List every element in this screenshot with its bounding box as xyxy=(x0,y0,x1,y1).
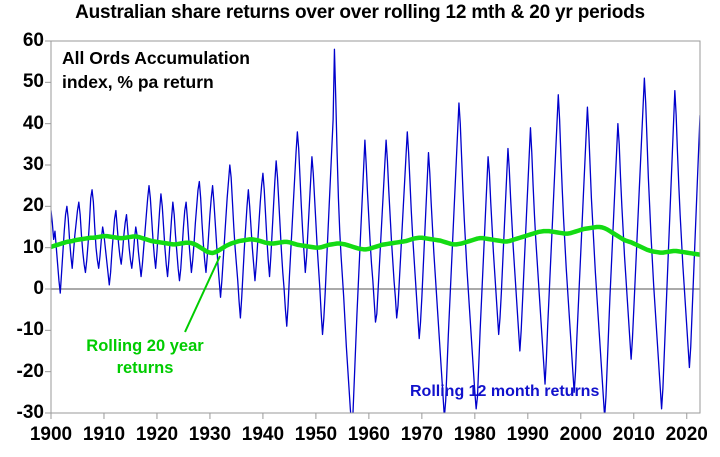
index-note-line2: index, % pa return xyxy=(62,71,214,93)
x-tick-label: 1900 xyxy=(24,425,78,445)
y-tick-label: 60 xyxy=(0,31,44,50)
y-tick-label: 50 xyxy=(0,72,44,91)
y-tick-label: 30 xyxy=(0,155,44,174)
x-tick-label: 2000 xyxy=(554,425,608,445)
x-tick-label: 1940 xyxy=(236,425,290,445)
y-tick-label: 0 xyxy=(0,279,44,298)
x-tick-label: 2010 xyxy=(607,425,661,445)
x-tick-label: 1990 xyxy=(501,425,555,445)
x-tick-label: 1980 xyxy=(448,425,502,445)
y-axis-tick-marks xyxy=(45,41,51,413)
x-tick-label: 1950 xyxy=(289,425,343,445)
x-tick-label: 1910 xyxy=(77,425,131,445)
x-tick-label: 1960 xyxy=(342,425,396,445)
green-series-label-line1: Rolling 20 year xyxy=(60,336,230,357)
index-note-line1: All Ords Accumulation xyxy=(62,47,250,69)
y-tick-label: 40 xyxy=(0,114,44,133)
green-series-label-line2: returns xyxy=(60,358,230,379)
y-tick-label: -10 xyxy=(0,320,44,339)
x-axis-tick-marks xyxy=(51,413,687,419)
blue-series-label: Rolling 12 month returns xyxy=(410,383,599,401)
x-tick-label: 1970 xyxy=(395,425,449,445)
x-tick-label: 2020 xyxy=(660,425,714,445)
y-tick-label: -20 xyxy=(0,362,44,381)
y-tick-label: 20 xyxy=(0,196,44,215)
y-tick-label: 10 xyxy=(0,238,44,257)
y-tick-label: -30 xyxy=(0,403,44,422)
x-tick-label: 1930 xyxy=(183,425,237,445)
chart-container: Australian share returns over over rolli… xyxy=(0,0,720,457)
x-tick-label: 1920 xyxy=(130,425,184,445)
